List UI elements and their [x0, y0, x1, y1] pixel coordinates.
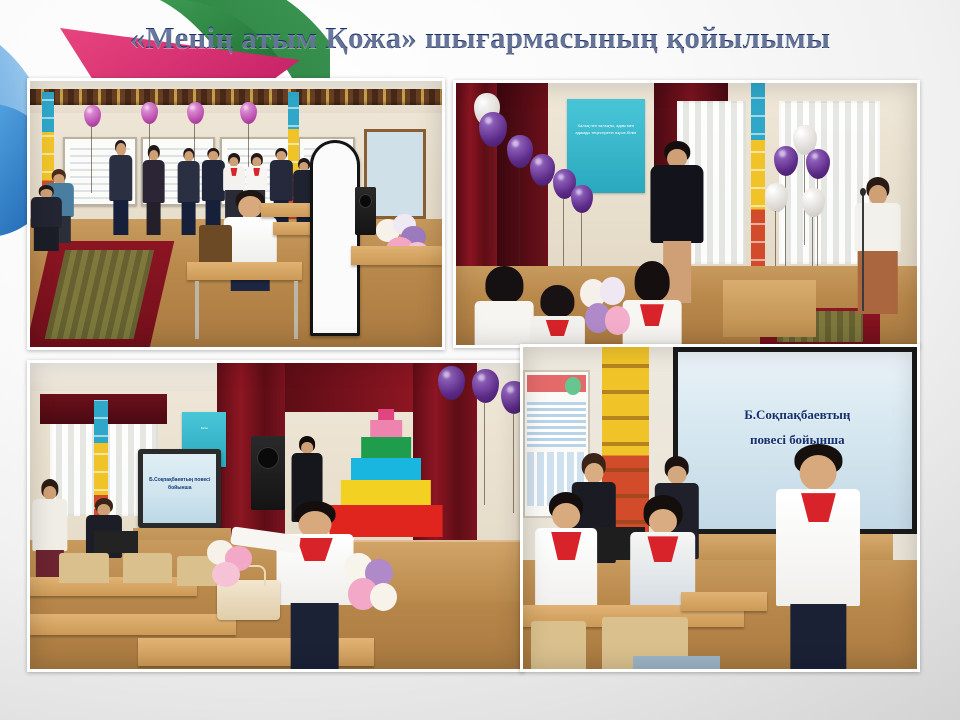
school-desk [351, 246, 442, 265]
pupil-back-view [530, 285, 585, 348]
tv-text: Б.Соқпақбаевтың повесі бойынша [143, 476, 216, 493]
teal-banner: Халық пен халықты, адам мен адамды теңес… [567, 99, 645, 193]
red-carpet [27, 241, 174, 347]
laptop [94, 531, 138, 552]
photo-3-scene: Білім Б.Соқпақбаевтың повесі бойынша [30, 363, 521, 669]
loudspeaker [251, 436, 285, 509]
standing-person [176, 148, 201, 236]
slide-title: «Менің атым Қожа» шығармасының қойылымы [130, 20, 831, 56]
seated-person [30, 185, 63, 252]
standing-person [141, 145, 166, 235]
photo-1-scene [30, 81, 442, 347]
paper-flowers [207, 540, 261, 589]
school-desk [187, 262, 302, 281]
balloon [802, 188, 825, 217]
desk-leg [195, 281, 199, 340]
slide-title-container: «Менің атым Қожа» шығармасының қойылымы [0, 20, 960, 56]
balloon [187, 102, 204, 124]
teal-banner-text: Халық пен халықты, адам мен адамды теңес… [573, 123, 639, 136]
balloon [765, 183, 788, 212]
ornament-band [30, 89, 442, 105]
boy-with-handbag [276, 501, 355, 669]
balloon [438, 366, 465, 400]
paper-flowers [344, 553, 403, 614]
bag-on-floor [633, 656, 720, 672]
kazakh-ornament-column [751, 83, 765, 287]
photo-collage: Халық пен халықты, адам мен адамды теңес… [0, 0, 960, 720]
screen-text-line-1: Б.Соқпақбаевтың [687, 403, 907, 428]
photo-classroom-boy-at-desk[interactable] [27, 78, 445, 350]
desk-leg [294, 281, 298, 340]
tv-monitor: Б.Соқпақбаевтың повесі бойынша [138, 449, 221, 529]
pupil-back-view [474, 266, 534, 348]
balloon [84, 105, 101, 127]
loudspeaker [355, 187, 376, 235]
standing-person [108, 140, 133, 236]
chair [531, 621, 586, 669]
photo-boy-with-handbag[interactable]: Білім Б.Соқпақбаевтың повесі бойынша [27, 360, 524, 672]
photo-4-scene: Б.Соқпақбаевтың повесі бойынша [523, 347, 917, 669]
white-panel-stand [310, 140, 359, 337]
presenter-woman [852, 177, 903, 313]
podium [723, 280, 815, 338]
chair [123, 553, 172, 584]
seated-pupil [535, 492, 598, 621]
standing-boy [767, 444, 869, 669]
photo-2-scene: Халық пен халықты, адам мен адамды теңес… [456, 83, 917, 345]
curtain-valance [285, 363, 413, 412]
paper-flowers [580, 277, 635, 340]
balloon [530, 154, 555, 186]
school-desk [681, 592, 768, 611]
microphone-stand [862, 193, 864, 311]
photo-pupils-at-desks-with-screen[interactable]: Б.Соқпақбаевтың повесі бойынша [520, 344, 920, 672]
school-desk [30, 614, 236, 635]
photo-teacher-with-pupils[interactable]: Халық пен халықты, адам мен адамды теңес… [453, 80, 920, 348]
chair [59, 553, 108, 584]
